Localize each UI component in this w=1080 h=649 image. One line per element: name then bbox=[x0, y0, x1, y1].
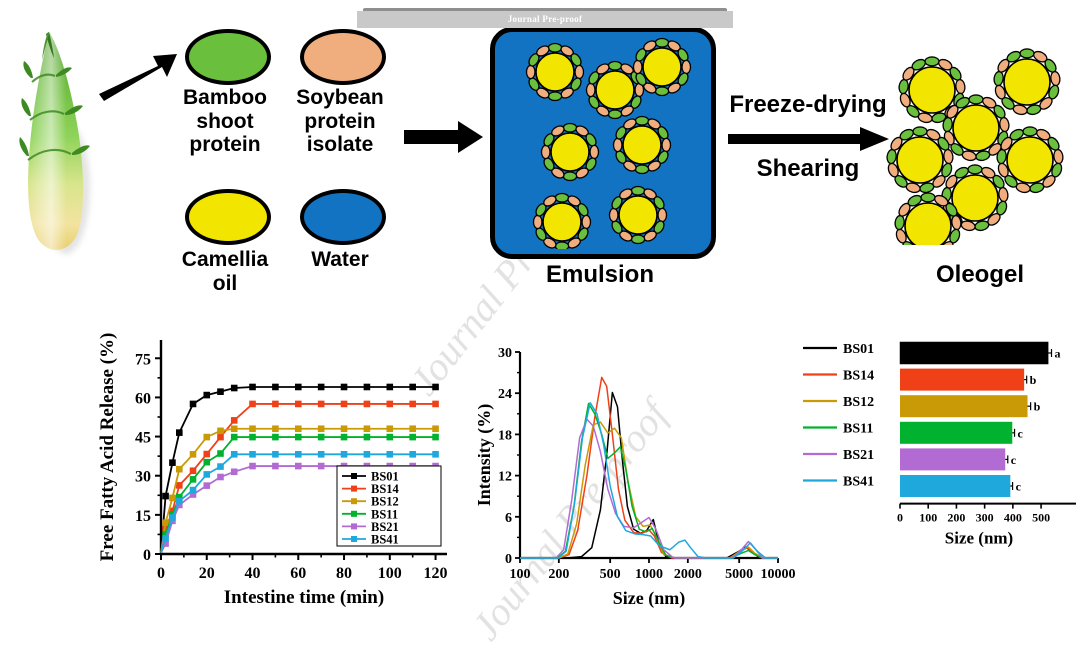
x-tick-label: 60 bbox=[290, 565, 306, 582]
data-point bbox=[273, 401, 279, 407]
bar-BS14 bbox=[900, 369, 1024, 391]
oil-core bbox=[643, 48, 681, 86]
label-line: protein bbox=[284, 110, 396, 134]
protein-peach-ellipse bbox=[662, 138, 671, 151]
data-point bbox=[204, 392, 210, 398]
data-point bbox=[295, 463, 301, 469]
protein-peach-ellipse bbox=[658, 208, 667, 221]
oil-droplet bbox=[886, 127, 953, 194]
y-tick-label: 18 bbox=[498, 428, 512, 443]
data-point bbox=[250, 426, 256, 432]
data-point bbox=[387, 434, 393, 440]
significance-letter: b bbox=[1030, 373, 1037, 387]
data-point bbox=[364, 401, 370, 407]
x-tick-label: 500 bbox=[600, 567, 621, 582]
oil-core bbox=[1004, 59, 1050, 105]
protein-peach-ellipse bbox=[1050, 71, 1061, 86]
label-line: isolate bbox=[284, 133, 396, 157]
data-point bbox=[250, 452, 256, 458]
oil-core bbox=[909, 67, 955, 113]
protein-green-ellipse bbox=[631, 186, 644, 195]
data-point bbox=[250, 384, 256, 390]
data-point bbox=[433, 401, 439, 407]
oleogel-cluster bbox=[880, 30, 1070, 245]
data-point bbox=[250, 463, 256, 469]
protein-green-ellipse bbox=[555, 193, 568, 202]
oil-core bbox=[551, 133, 589, 171]
series-curve-BS41 bbox=[520, 403, 778, 558]
x-tick-label: 120 bbox=[424, 565, 448, 582]
data-point bbox=[318, 384, 324, 390]
inset-x-tick-label: 100 bbox=[919, 511, 937, 525]
protein-peach-ellipse bbox=[633, 60, 642, 73]
data-point bbox=[387, 401, 393, 407]
protein-peach-ellipse bbox=[533, 215, 542, 228]
protein-green-ellipse bbox=[898, 79, 909, 94]
protein-peach-ellipse bbox=[609, 208, 618, 221]
data-point bbox=[273, 426, 279, 432]
protein-green-ellipse bbox=[655, 87, 668, 96]
inset-x-tick-label: 300 bbox=[976, 511, 994, 525]
data-point bbox=[341, 401, 347, 407]
data-point bbox=[250, 434, 256, 440]
protein-peach-ellipse bbox=[1053, 149, 1064, 164]
protein-peach-ellipse bbox=[590, 145, 599, 158]
protein-green-ellipse bbox=[993, 71, 1004, 86]
protein-peach-ellipse bbox=[526, 65, 535, 78]
legend-label-BS41: BS41 bbox=[843, 475, 874, 490]
x-tick-label: 0 bbox=[157, 565, 165, 582]
y-axis-label: Free Fatty Acid Release (%) bbox=[97, 333, 118, 562]
data-point bbox=[190, 401, 196, 407]
series-curve-BS12 bbox=[520, 422, 778, 558]
data-point bbox=[204, 459, 210, 465]
label-line: protein bbox=[170, 133, 280, 157]
data-point bbox=[273, 434, 279, 440]
data-point bbox=[295, 452, 301, 458]
data-point bbox=[218, 428, 224, 434]
y-axis-label: Intensity (%) bbox=[478, 404, 495, 507]
y-tick-label: 15 bbox=[135, 508, 151, 525]
x-tick-label: 100 bbox=[378, 565, 402, 582]
oil-core bbox=[619, 196, 657, 234]
data-point bbox=[387, 384, 393, 390]
data-point bbox=[218, 464, 224, 470]
arrow-freeze-drying-shearing bbox=[728, 126, 890, 152]
protein-green-ellipse bbox=[563, 172, 576, 181]
bar-BS01 bbox=[900, 342, 1048, 364]
protein-green-ellipse bbox=[555, 242, 568, 249]
oil-droplet bbox=[993, 49, 1060, 116]
protein-green-ellipse bbox=[548, 92, 561, 101]
data-point bbox=[190, 477, 196, 483]
protein-green-ellipse bbox=[913, 127, 927, 136]
arrow-bamboo-to-ingredients bbox=[95, 50, 180, 105]
protein-green-ellipse bbox=[635, 165, 648, 174]
protein-peach-ellipse bbox=[582, 215, 591, 228]
protein-peach-ellipse bbox=[999, 117, 1010, 132]
oil-core bbox=[623, 126, 661, 164]
data-point bbox=[231, 385, 237, 391]
data-point bbox=[341, 384, 347, 390]
data-point bbox=[410, 452, 416, 458]
inset-x-tick-label: 500 bbox=[1032, 511, 1050, 525]
protein-green-ellipse bbox=[563, 123, 576, 132]
data-point bbox=[177, 466, 183, 472]
data-point bbox=[410, 426, 416, 432]
oil-core bbox=[596, 71, 634, 109]
journal-preproof-banner: Journal Pre-proof bbox=[357, 11, 733, 28]
protein-green-ellipse bbox=[608, 61, 621, 69]
chart-ffa-release: 01530456075020406080100120Intestine time… bbox=[95, 318, 465, 618]
label-line: Bamboo bbox=[170, 86, 280, 110]
oil-droplet bbox=[526, 43, 583, 100]
protein-peach-ellipse bbox=[682, 60, 691, 73]
data-point bbox=[218, 434, 224, 440]
emulsion-droplets bbox=[490, 27, 706, 249]
inset-x-axis-label: Size (nm) bbox=[945, 529, 1013, 548]
series-curve-BS01 bbox=[520, 393, 778, 558]
y-tick-label: 75 bbox=[135, 351, 151, 368]
data-point bbox=[204, 472, 210, 478]
data-point bbox=[218, 389, 224, 395]
bamboo-shoot-icon bbox=[18, 28, 96, 260]
protein-green-ellipse bbox=[969, 95, 983, 104]
oil-core bbox=[905, 203, 951, 245]
data-point bbox=[364, 426, 370, 432]
data-point bbox=[231, 426, 237, 432]
protein-green-ellipse bbox=[1023, 127, 1037, 136]
y-tick-label: 0 bbox=[505, 552, 512, 567]
protein-peach-ellipse bbox=[586, 83, 595, 96]
x-tick-label: 80 bbox=[336, 565, 352, 582]
oil-core bbox=[897, 137, 943, 183]
label-line: Water bbox=[284, 248, 396, 272]
data-point bbox=[318, 463, 324, 469]
data-point bbox=[433, 434, 439, 440]
data-point bbox=[387, 426, 393, 432]
protein-green-ellipse bbox=[655, 38, 668, 47]
significance-letter: c bbox=[1011, 453, 1017, 467]
x-axis-label: Size (nm) bbox=[613, 588, 685, 609]
data-point bbox=[410, 384, 416, 390]
x-tick-label: 200 bbox=[548, 567, 569, 582]
x-tick-label: 100 bbox=[510, 567, 531, 582]
label-line: shoot bbox=[170, 110, 280, 134]
label-line: Camellia bbox=[168, 248, 282, 272]
significance-letter: a bbox=[1055, 347, 1061, 361]
x-tick-label: 5000 bbox=[725, 567, 753, 582]
y-tick-label: 12 bbox=[498, 470, 512, 485]
chart-size-distribution: 061218243010020050010002000500010000Size… bbox=[478, 330, 1078, 622]
data-point bbox=[273, 452, 279, 458]
y-tick-label: 6 bbox=[505, 511, 512, 526]
data-point bbox=[410, 401, 416, 407]
swatch-bamboo-shoot-protein bbox=[185, 29, 271, 85]
label-line: oil bbox=[168, 272, 282, 296]
y-tick-label: 30 bbox=[135, 469, 151, 486]
significance-letter: c bbox=[1016, 480, 1022, 494]
legend-label-BS12: BS12 bbox=[843, 395, 874, 410]
label-water: Water bbox=[284, 248, 396, 272]
data-point bbox=[250, 401, 256, 407]
legend-label-BS41: BS41 bbox=[371, 533, 399, 547]
inset-x-tick-label: 200 bbox=[947, 511, 965, 525]
protein-green-ellipse bbox=[635, 116, 648, 125]
inset-x-tick-label: 400 bbox=[1004, 511, 1022, 525]
protein-green-ellipse bbox=[548, 43, 561, 52]
data-point bbox=[170, 515, 176, 521]
protein-peach-ellipse bbox=[998, 187, 1009, 202]
data-point bbox=[170, 460, 176, 466]
inset-x-tick-label: 0 bbox=[897, 511, 903, 525]
data-point bbox=[218, 451, 224, 457]
label-emulsion: Emulsion bbox=[520, 262, 680, 289]
data-point bbox=[318, 434, 324, 440]
data-point bbox=[231, 418, 237, 424]
label-shearing: Shearing bbox=[728, 156, 888, 183]
data-point bbox=[318, 401, 324, 407]
legend-label-BS11: BS11 bbox=[843, 422, 873, 437]
data-point bbox=[204, 434, 210, 440]
data-point bbox=[433, 426, 439, 432]
protein-peach-ellipse bbox=[575, 65, 584, 78]
oil-core bbox=[543, 203, 581, 241]
y-tick-label: 30 bbox=[498, 346, 512, 361]
y-tick-label: 45 bbox=[135, 430, 151, 447]
data-point bbox=[190, 487, 196, 493]
y-tick-label: 0 bbox=[143, 547, 151, 564]
oil-core bbox=[536, 53, 574, 91]
data-point bbox=[190, 452, 196, 458]
data-point bbox=[231, 452, 237, 458]
data-point bbox=[273, 463, 279, 469]
series-curve-BS21 bbox=[520, 419, 778, 558]
data-point bbox=[295, 384, 301, 390]
bar-BS21 bbox=[900, 448, 1005, 470]
data-point bbox=[177, 483, 183, 489]
x-tick-label: 1000 bbox=[635, 567, 663, 582]
data-point bbox=[218, 474, 224, 480]
data-point bbox=[273, 384, 279, 390]
data-point bbox=[387, 452, 393, 458]
label-camellia-oil: Camellia oil bbox=[168, 248, 282, 295]
oil-core bbox=[1007, 137, 1053, 183]
x-tick-label: 40 bbox=[245, 565, 261, 582]
bar-BS11 bbox=[900, 422, 1012, 444]
bar-BS12 bbox=[900, 395, 1028, 417]
data-point bbox=[295, 426, 301, 432]
data-point bbox=[231, 434, 237, 440]
data-point bbox=[318, 426, 324, 432]
data-point bbox=[364, 434, 370, 440]
data-point bbox=[295, 401, 301, 407]
data-point bbox=[364, 384, 370, 390]
label-oleogel: Oleogel bbox=[900, 262, 1060, 289]
data-point bbox=[190, 468, 196, 474]
data-point bbox=[433, 384, 439, 390]
protein-peach-ellipse bbox=[955, 79, 966, 94]
data-point bbox=[341, 426, 347, 432]
oil-core bbox=[952, 175, 998, 221]
significance-letter: c bbox=[1018, 426, 1024, 440]
protein-peach-ellipse bbox=[541, 145, 550, 158]
swatch-camellia-oil bbox=[185, 189, 271, 245]
x-tick-label: 10000 bbox=[761, 567, 796, 582]
data-point bbox=[204, 483, 210, 489]
y-tick-label: 60 bbox=[135, 390, 151, 407]
oil-droplet bbox=[609, 186, 666, 243]
protein-green-ellipse bbox=[968, 165, 982, 174]
oil-core bbox=[953, 105, 999, 151]
swatch-water bbox=[300, 189, 386, 245]
x-axis-label: Intestine time (min) bbox=[224, 587, 384, 608]
protein-green-ellipse bbox=[1020, 49, 1034, 58]
data-point bbox=[163, 536, 169, 542]
x-tick-label: 20 bbox=[199, 565, 215, 582]
data-point bbox=[341, 452, 347, 458]
x-tick-label: 2000 bbox=[674, 567, 702, 582]
y-tick-label: 24 bbox=[498, 387, 512, 402]
data-point bbox=[163, 520, 169, 526]
label-freeze-drying: Freeze-drying bbox=[718, 92, 898, 119]
graphical-abstract: Journal Pre-proof Journal Pre-proof Jour… bbox=[0, 0, 1080, 626]
label-line: Soybean bbox=[284, 86, 396, 110]
data-point bbox=[341, 434, 347, 440]
legend-label-BS01: BS01 bbox=[843, 342, 874, 357]
data-point bbox=[295, 434, 301, 440]
arrow-ingredients-to-emulsion bbox=[404, 120, 484, 154]
protein-green-ellipse bbox=[921, 193, 935, 202]
label-soybean-protein-isolate: Soybean protein isolate bbox=[284, 86, 396, 157]
oil-droplet bbox=[613, 116, 670, 173]
protein-peach-ellipse bbox=[613, 138, 622, 151]
data-point bbox=[410, 434, 416, 440]
swatch-soybean-protein-isolate bbox=[300, 29, 386, 85]
data-point bbox=[433, 452, 439, 458]
data-point bbox=[163, 493, 169, 499]
data-point bbox=[364, 452, 370, 458]
data-point bbox=[177, 430, 183, 436]
series-curve-BS11 bbox=[520, 404, 778, 559]
data-point bbox=[231, 469, 237, 475]
oil-droplet bbox=[541, 123, 598, 180]
legend-label-BS14: BS14 bbox=[843, 369, 874, 384]
protein-green-ellipse bbox=[894, 215, 905, 230]
data-point bbox=[170, 495, 176, 501]
data-point bbox=[204, 451, 210, 457]
data-point bbox=[318, 452, 324, 458]
protein-green-ellipse bbox=[925, 57, 939, 66]
data-point bbox=[177, 498, 183, 504]
protein-green-ellipse bbox=[631, 235, 644, 244]
legend-label-BS21: BS21 bbox=[843, 448, 874, 463]
protein-green-ellipse bbox=[608, 110, 621, 119]
significance-letter: b bbox=[1034, 400, 1041, 414]
label-bamboo-shoot-protein: Bamboo shoot protein bbox=[170, 86, 280, 157]
bar-BS41 bbox=[900, 475, 1010, 497]
oil-droplet bbox=[533, 193, 590, 249]
